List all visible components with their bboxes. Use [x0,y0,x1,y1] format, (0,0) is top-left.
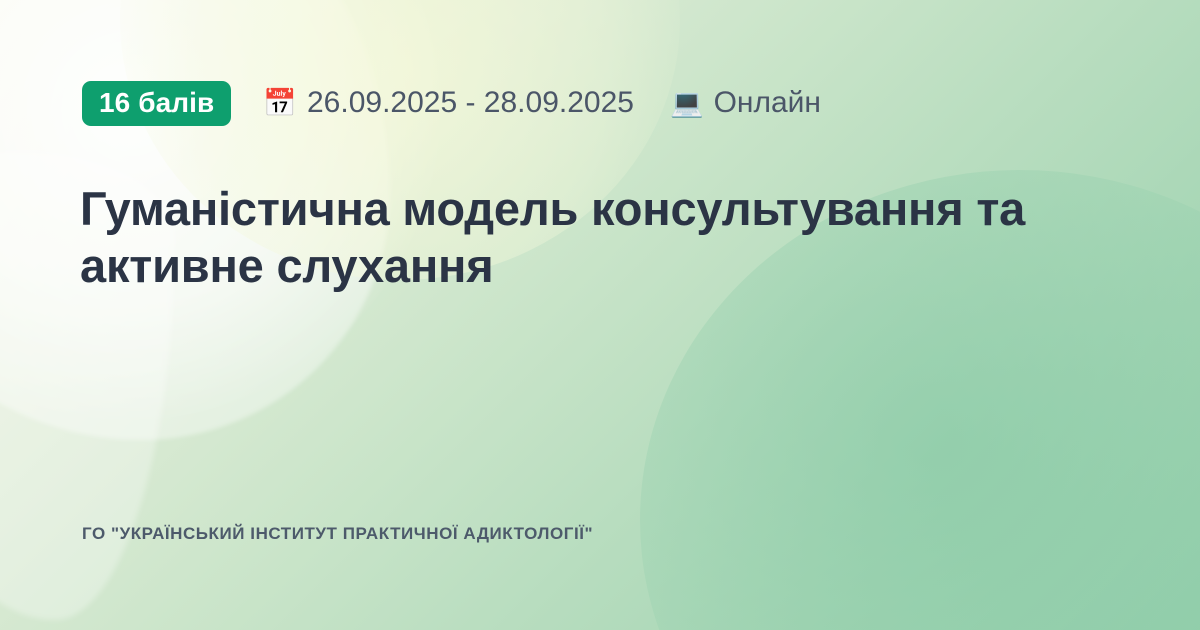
date-range-group: 📅 26.09.2025 - 28.09.2025 [263,88,634,118]
page-title: Гуманістична модель консультування та ак… [80,181,1120,295]
format-label: Онлайн [714,88,821,118]
credits-badge: 16 балів [82,81,231,126]
organization-name: ГО "УКРАЇНСЬКИЙ ІНСТИТУТ ПРАКТИЧНОЇ АДИК… [82,524,593,544]
laptop-icon: 💻 [670,90,704,117]
meta-row: 16 балів 📅 26.09.2025 - 28.09.2025 💻 Онл… [82,80,821,126]
event-banner: 16 балів 📅 26.09.2025 - 28.09.2025 💻 Онл… [0,0,1200,630]
date-range-text: 26.09.2025 - 28.09.2025 [307,88,634,118]
banner-content: 16 балів 📅 26.09.2025 - 28.09.2025 💻 Онл… [0,0,1200,630]
calendar-icon: 📅 [263,90,297,117]
format-group: 💻 Онлайн [670,88,821,118]
